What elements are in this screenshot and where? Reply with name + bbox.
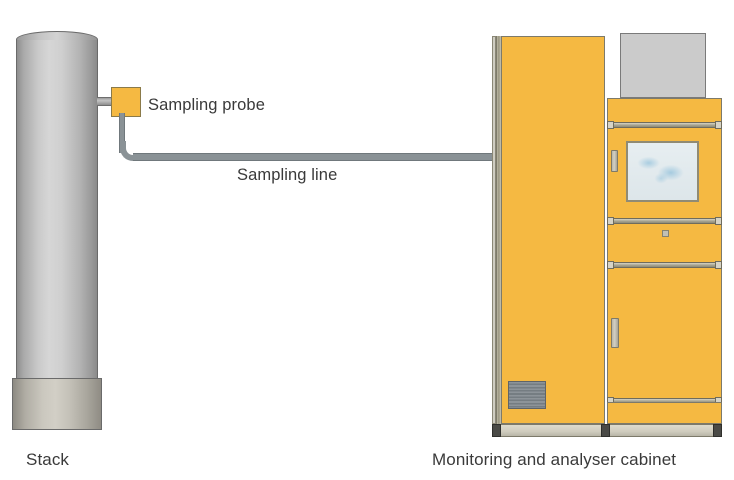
stack-body (16, 40, 98, 383)
cabinet-rail-lower-cap-right (715, 261, 722, 269)
lower-door-handle (611, 318, 619, 348)
vent-grille-icon (508, 381, 546, 409)
top-instrument-box (620, 33, 706, 98)
label-sampling-line: Sampling line (237, 166, 337, 185)
analyser-display-content (628, 143, 697, 200)
cabinet-rail-lower (607, 262, 722, 268)
cabinet-foot-right (713, 424, 722, 437)
cabinet-bottom-bay (607, 402, 722, 424)
cabinet-rail-top-cap-left (607, 121, 614, 129)
label-sampling-probe: Sampling probe (148, 96, 265, 115)
cabinet-left-trim-strip (492, 36, 496, 424)
cabinet-rail-top-cap-right (715, 121, 722, 129)
stack-base (12, 378, 102, 430)
sampling-probe-body (111, 87, 141, 117)
caption-cabinet: Monitoring and analyser cabinet (432, 450, 676, 470)
cabinet-rail-middle-cap-left (607, 217, 614, 225)
cabinet-rail-middle-cap-right (715, 217, 722, 225)
analyser-display-screen (626, 141, 699, 202)
caption-stack: Stack (26, 450, 69, 470)
sampling-line-horizontal (133, 153, 498, 161)
cabinet-rail-lower-cap-left (607, 261, 614, 269)
drawer-button (662, 230, 669, 237)
cabinet-foot-left (492, 424, 501, 437)
cabinet-foot-middle (601, 424, 610, 437)
cabinet-left-bay (492, 36, 605, 424)
cabinet-left-edge-post (496, 36, 502, 424)
cabinet-rail-middle (607, 218, 722, 224)
upper-door-handle (611, 150, 618, 172)
diagram-canvas: Sampling probe Sampling line Stack Monit… (0, 0, 734, 480)
cabinet-rail-top (607, 122, 722, 128)
